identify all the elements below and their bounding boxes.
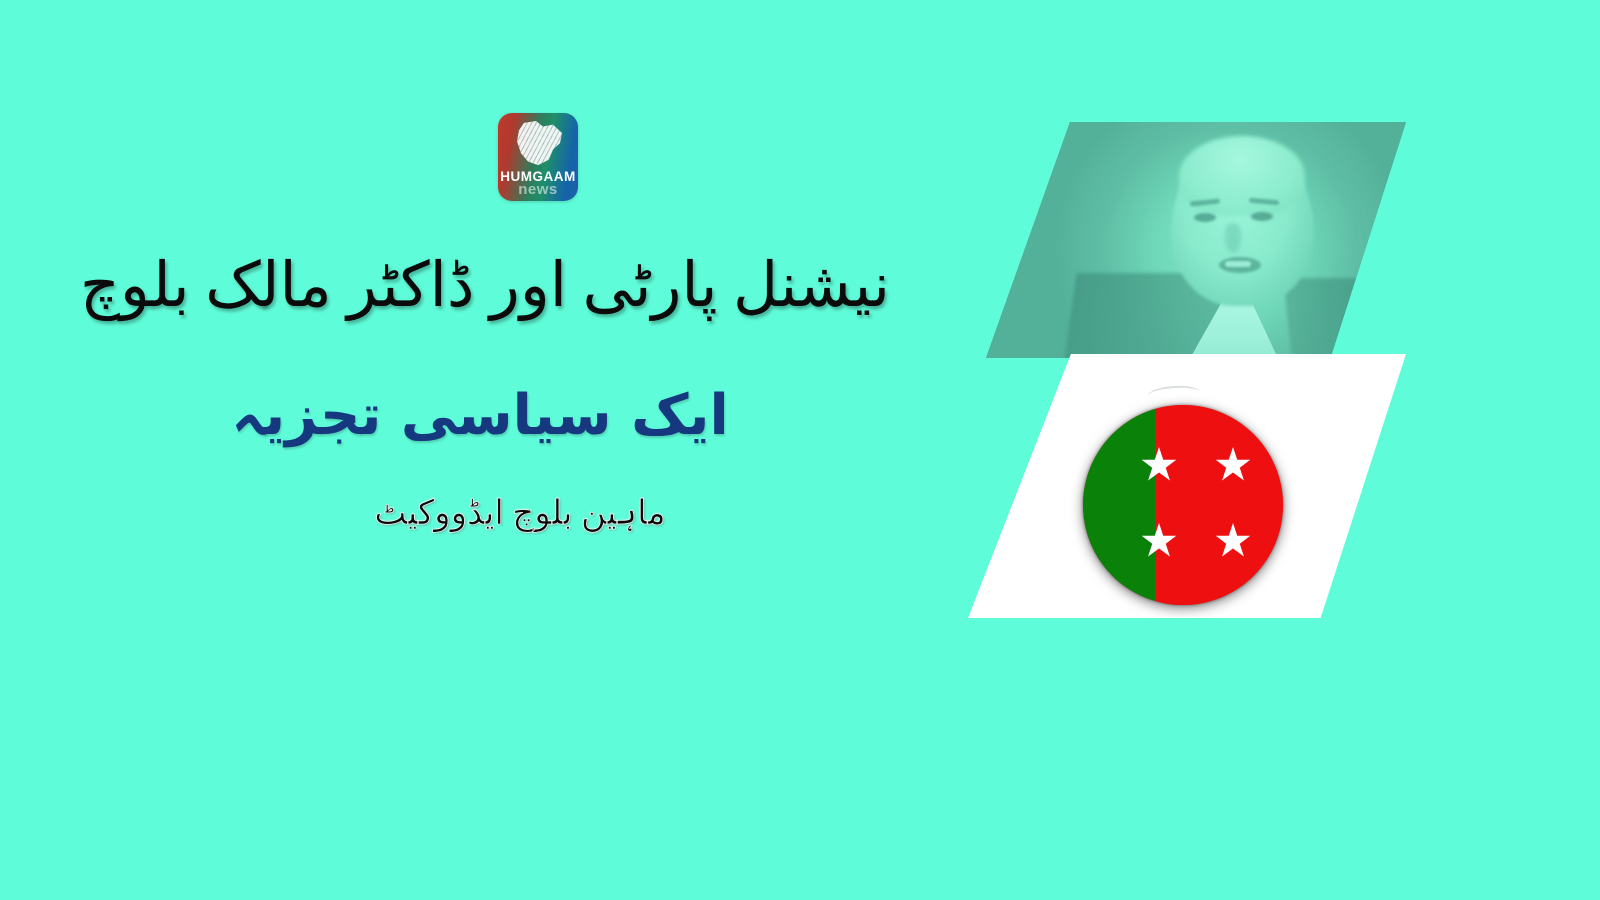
- author-byline: ماہین بلوچ ایڈووکیٹ: [300, 492, 740, 533]
- page-subtitle: ایک سیاسی تجزیہ: [200, 383, 760, 448]
- humgaam-news-logo[interactable]: HUMGAAM news: [498, 113, 578, 201]
- flag-green-band: [1083, 405, 1155, 605]
- portrait-panel: [986, 122, 1406, 358]
- map-texture-icon: [514, 121, 564, 167]
- poster-canvas: HUMGAAM news نیشنل پارٹی اور ڈاکٹر مالک …: [0, 0, 1600, 900]
- logo-wordmark-secondary: news: [498, 181, 578, 198]
- national-party-flag-badge: [1083, 405, 1283, 605]
- portrait-color-overlay: [986, 122, 1406, 358]
- flag-red-band: [1155, 405, 1283, 605]
- page-title: نیشنل پارٹی اور ڈاکٹر مالک بلوچ: [120, 248, 890, 326]
